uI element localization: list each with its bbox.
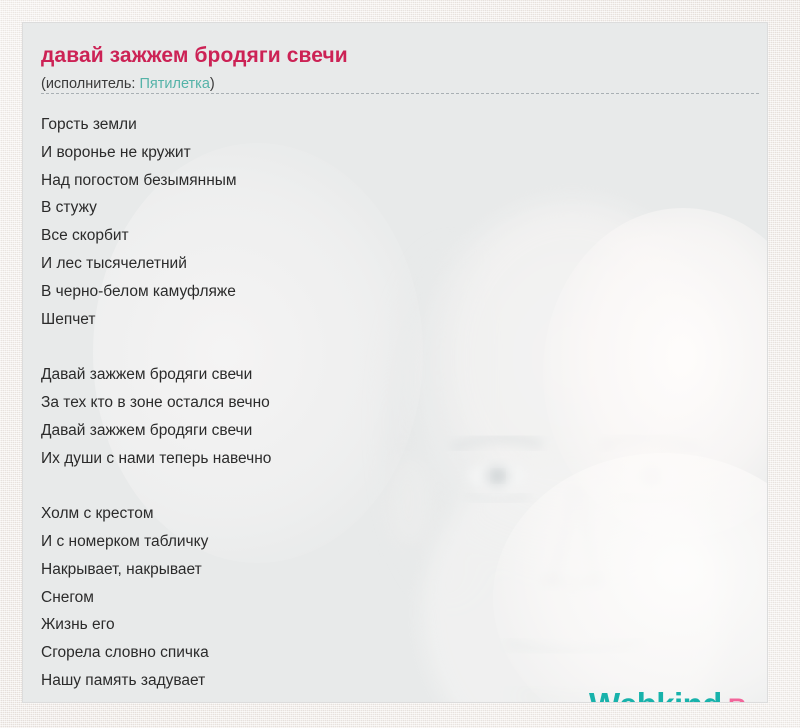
performer-line: (исполнитель: Пятилетка) (41, 74, 757, 94)
song-header: давай зажжем бродяги свечи (исполнитель:… (41, 43, 757, 94)
lyrics-content-card: давай зажжем бродяги свечи (исполнитель:… (22, 22, 768, 703)
lyric-line: Над погостом безымянным (41, 167, 755, 195)
header-divider (41, 93, 759, 94)
logo-main-text: Webkind (589, 686, 722, 703)
lyric-line: Холм с крестом (41, 500, 755, 528)
performer-link[interactable]: Пятилетка (139, 76, 209, 92)
lyric-line: И лес тысячелетний (41, 250, 755, 278)
performer-prefix-label: (исполнитель: (41, 76, 139, 92)
logo-wordmark: Webkind.Ru (589, 688, 768, 703)
lyric-line-blank (41, 472, 755, 500)
lyric-line: И воронье не кружит (41, 139, 755, 167)
page-title: давай зажжем бродяги свечи (41, 43, 757, 69)
lyric-line: Давай зажжем бродяги свечи (41, 361, 755, 389)
lyric-line: Снегом (41, 584, 755, 612)
lyric-line: В черно-белом камуфляже (41, 278, 755, 306)
lyrics-text: Горсть землиИ воронье не кружитНад погос… (41, 111, 755, 703)
lyric-line: В стужу (41, 194, 755, 222)
lyric-line: Жизнь его (41, 611, 755, 639)
lyric-line: Давай зажжем бродяги свечи (41, 417, 755, 445)
lyric-line: И с номерком табличку (41, 528, 755, 556)
lyric-line: Сгорела словно спичка (41, 639, 755, 667)
lyric-line: Шепчет (41, 306, 755, 334)
lyric-line: Все скорбит (41, 222, 755, 250)
lyric-line: За тех кто в зоне остался вечно (41, 389, 755, 417)
lyric-line: Их души с нами теперь навечно (41, 445, 755, 473)
lyric-line: Горсть земли (41, 111, 755, 139)
lyric-line: Накрывает, накрывает (41, 556, 755, 584)
logo-tld-text: .Ru (722, 694, 760, 703)
performer-suffix-label: ) (210, 76, 215, 92)
lyric-line-blank (41, 333, 755, 361)
site-logo[interactable]: Webkind.Ru тексты песен (589, 688, 768, 703)
